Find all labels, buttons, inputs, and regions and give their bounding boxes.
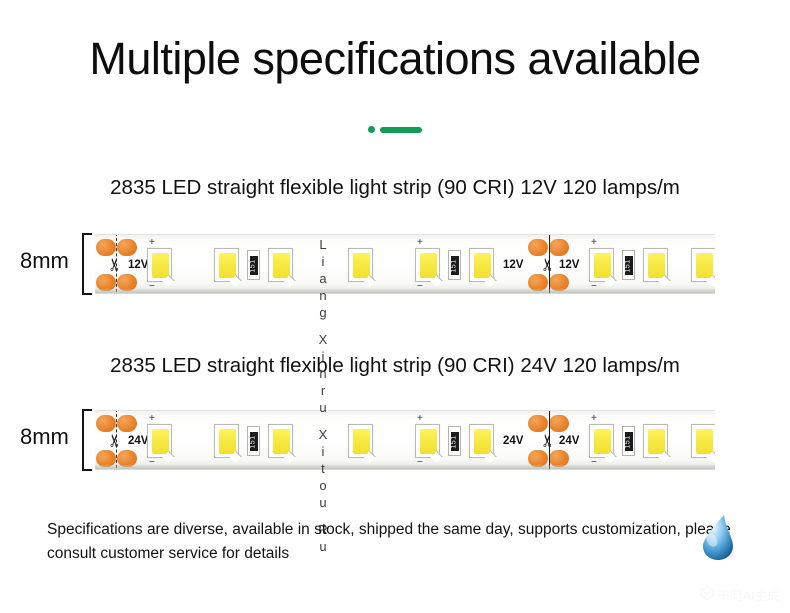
led-chip (214, 248, 239, 282)
copper-pad (528, 450, 548, 467)
resistor-code: 151 (250, 435, 258, 448)
dimension-bracket-12v (82, 233, 92, 295)
copper-pad (549, 239, 569, 256)
resistor-code: 151 (625, 435, 633, 448)
led-chip (643, 248, 668, 282)
copper-pad (96, 450, 116, 467)
led-chip (348, 248, 373, 282)
copper-pad (117, 450, 137, 467)
led-strip-diagram-12v: 8mm ✂ 12V + − 151 + − 151 12V (0, 222, 790, 312)
led-chip (415, 424, 440, 458)
spec-heading-12v: 2835 LED straight flexible light strip (… (0, 175, 790, 201)
watermark-char: u (319, 494, 326, 511)
polarity-minus: − (591, 458, 597, 468)
polarity-plus: + (149, 414, 155, 424)
ai-watermark-logo-icon (700, 586, 714, 605)
led-strip-diagram-24v: 8mm ✂ 24V + − 151 + − 151 24V (0, 398, 790, 488)
copper-pad (528, 415, 548, 432)
scissors-icon: ✂ (107, 257, 124, 271)
ai-watermark-text: 千问AI生成 (718, 589, 780, 603)
led-chip (147, 424, 172, 458)
scissors-icon: ✂ (540, 257, 557, 271)
resistor-component: 151 (247, 426, 260, 456)
copper-pad (96, 239, 116, 256)
polarity-minus: − (417, 282, 423, 292)
led-chip (268, 248, 293, 282)
dimension-bracket-24v (82, 409, 92, 471)
voltage-tag-left-12v: 12V (128, 259, 148, 271)
voltage-tag-mid-left-24v: 24V (503, 435, 523, 447)
copper-pad (528, 274, 548, 291)
led-chip (268, 424, 293, 458)
polarity-minus: − (149, 458, 155, 468)
scissors-icon: ✂ (540, 433, 557, 447)
resistor-code: 151 (451, 259, 459, 272)
pcb-strip-body-24v: ✂ 24V + − 151 + − 151 24V ✂ 24V + − (95, 410, 715, 470)
scissors-icon: ✂ (107, 433, 124, 447)
polarity-minus: − (417, 458, 423, 468)
watermark-char: r (321, 382, 325, 399)
led-chip (214, 424, 239, 458)
led-chip (691, 248, 715, 282)
led-chip (589, 424, 614, 458)
resistor-component: 151 (448, 250, 461, 280)
voltage-tag-mid-right-12v: 12V (559, 259, 579, 271)
divider-dot-icon (368, 126, 375, 133)
led-chip (643, 424, 668, 458)
polarity-plus: + (417, 414, 423, 424)
resistor-component: 151 (622, 250, 635, 280)
watermark-char: X (319, 331, 328, 348)
led-chip (415, 248, 440, 282)
ai-watermark: 千问AI生成 (700, 586, 780, 605)
led-chip (469, 424, 494, 458)
dimension-label-width-12v: 8mm (20, 248, 69, 274)
dimension-label-width-24v: 8mm (20, 424, 69, 450)
copper-pad (117, 239, 137, 256)
page-title: Multiple specifications available (0, 30, 790, 88)
voltage-tag-mid-right-24v: 24V (559, 435, 579, 447)
polarity-plus: + (591, 238, 597, 248)
resistor-code: 151 (451, 435, 459, 448)
section-divider (0, 126, 790, 133)
led-chip (691, 424, 715, 458)
copper-pad (117, 415, 137, 432)
copper-pad (549, 415, 569, 432)
bottom-note: Specifications are diverse, available in… (47, 518, 747, 566)
copper-pad (549, 274, 569, 291)
polarity-plus: + (417, 238, 423, 248)
spec-heading-24v: 2835 LED straight flexible light strip (… (0, 353, 790, 379)
resistor-component: 151 (622, 426, 635, 456)
copper-pad (549, 450, 569, 467)
pcb-strip-body-12v: ✂ 12V + − 151 + − 151 12V ✂ 12V + (95, 234, 715, 294)
voltage-tag-left-24v: 24V (128, 435, 148, 447)
water-drop-logo (697, 513, 742, 561)
resistor-component: 151 (448, 426, 461, 456)
polarity-minus: − (591, 282, 597, 292)
led-chip (469, 248, 494, 282)
voltage-tag-mid-left-12v: 12V (503, 259, 523, 271)
divider-bar-icon (380, 127, 422, 133)
copper-pad (117, 274, 137, 291)
polarity-minus: − (149, 282, 155, 292)
resistor-code: 151 (250, 259, 258, 272)
led-chip (348, 424, 373, 458)
copper-pad (96, 415, 116, 432)
polarity-plus: + (149, 238, 155, 248)
copper-pad (528, 239, 548, 256)
led-chip (589, 248, 614, 282)
polarity-plus: + (591, 414, 597, 424)
copper-pad (96, 274, 116, 291)
resistor-component: 151 (247, 250, 260, 280)
resistor-code: 151 (625, 259, 633, 272)
led-chip (147, 248, 172, 282)
